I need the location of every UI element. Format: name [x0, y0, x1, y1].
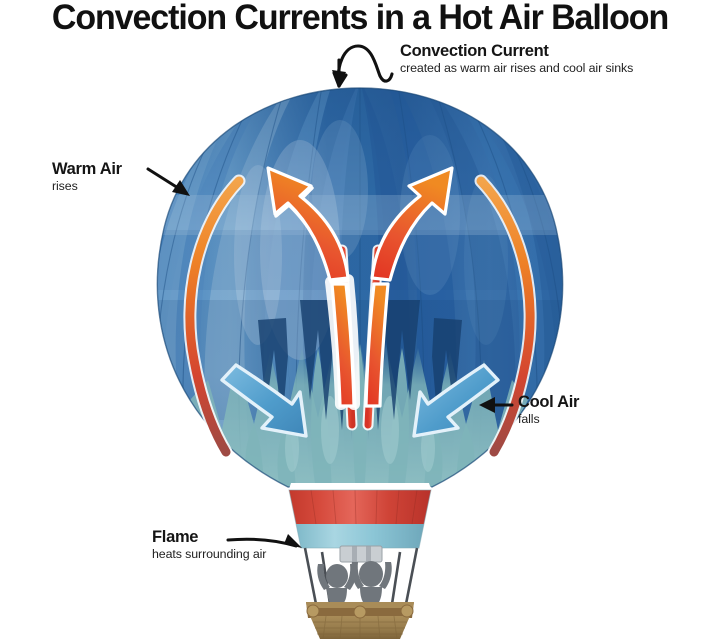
wavy-down-arrow-icon	[334, 46, 392, 86]
warm-air-label-sub: rises	[52, 179, 122, 194]
convection-label-head: Convection Current	[400, 42, 633, 61]
cool-air-label-sub: falls	[518, 412, 579, 427]
convection-label-sub: created as warm air rises and cool air s…	[400, 61, 633, 76]
pointer-arrows-layer	[0, 0, 720, 639]
diagonal-down-right-arrow-icon	[148, 169, 190, 196]
left-arrow-icon	[479, 397, 512, 413]
label-convection-current: Convection Current created as warm air r…	[400, 42, 633, 76]
cool-air-label-head: Cool Air	[518, 393, 579, 412]
diagram-canvas: Convection Currents in a Hot Air Balloon	[0, 0, 720, 639]
label-cool-air: Cool Air falls	[518, 393, 579, 427]
label-flame: Flame heats surrounding air	[152, 528, 266, 562]
warm-air-label-head: Warm Air	[52, 160, 122, 179]
flame-label-sub: heats surrounding air	[152, 547, 266, 562]
label-warm-air: Warm Air rises	[52, 160, 122, 194]
flame-label-head: Flame	[152, 528, 266, 547]
